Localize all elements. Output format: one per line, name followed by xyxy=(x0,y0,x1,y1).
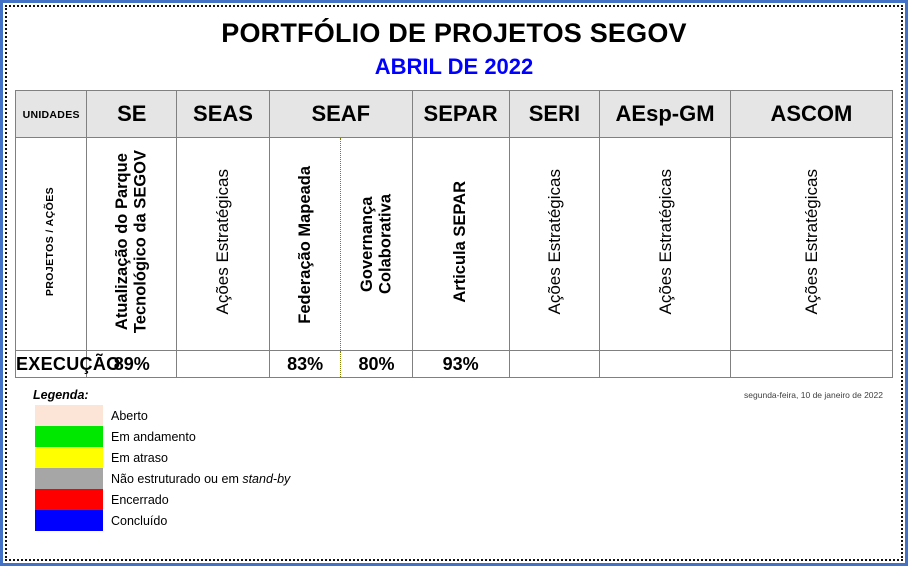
project-cell-se[interactable]: Atualização do Parque Tecnológico da SEG… xyxy=(87,138,177,351)
unit-label: SEAS xyxy=(193,101,253,126)
project-cell-seas[interactable]: Ações Estratégicas xyxy=(177,138,270,351)
page-root: PORTFÓLIO DE PROJETOS SEGOV ABRIL DE 202… xyxy=(0,0,908,566)
unit-label: SE xyxy=(117,101,146,126)
row-label-projects: PROJETOS / AÇÕES xyxy=(16,138,87,351)
execution-cell-aespgm xyxy=(600,351,731,378)
unit-label: SEPAR xyxy=(424,101,498,126)
page-inner-frame: PORTFÓLIO DE PROJETOS SEGOV ABRIL DE 202… xyxy=(5,5,903,561)
legend-swatch xyxy=(35,405,103,426)
seaf-split: Federação Mapeada Governança Colaborativ… xyxy=(270,138,412,350)
execution-cell-seri xyxy=(509,351,600,378)
legend-item-em-andamento: Em andamento xyxy=(15,426,893,447)
execution-value: 80% xyxy=(358,354,394,375)
project-subcell-federacao[interactable]: Federação Mapeada xyxy=(270,138,340,350)
project-name: Atualização do Parque Tecnológico da SEG… xyxy=(113,150,150,333)
portfolio-matrix: UNIDADES SE SEAS SEAF SEPAR SERI AEsp-GM… xyxy=(15,90,893,378)
legend-item-concluido: Concluído xyxy=(15,510,893,531)
units-label: UNIDADES xyxy=(23,109,80,121)
project-name: Federação Mapeada xyxy=(296,166,314,324)
legend-label: Em atraso xyxy=(111,451,168,465)
legend-swatch xyxy=(35,510,103,531)
execution-row: EXECUÇÃO 89% 83% 80% xyxy=(16,351,893,378)
execution-cell-seaf: 83% 80% xyxy=(269,351,412,378)
title-block: PORTFÓLIO DE PROJETOS SEGOV ABRIL DE 202… xyxy=(15,19,893,78)
project-name: Ações Estratégicas xyxy=(802,169,821,315)
project-subcell-governanca[interactable]: Governança Colaborativa xyxy=(340,138,411,350)
unit-header-separ[interactable]: SEPAR xyxy=(412,91,509,138)
unit-label: ASCOM xyxy=(770,101,852,126)
legend-swatch xyxy=(35,489,103,510)
legend-label: Encerrado xyxy=(111,493,169,507)
execution-value: 89% xyxy=(114,354,150,374)
legend: segunda-feira, 10 de janeiro de 2022 Leg… xyxy=(15,388,893,531)
page-title: PORTFÓLIO DE PROJETOS SEGOV xyxy=(15,19,893,47)
unit-label: SERI xyxy=(529,101,580,126)
unit-header-ascom[interactable]: ASCOM xyxy=(730,91,892,138)
execution-cell-seas xyxy=(177,351,270,378)
execution-cell-separ: 93% xyxy=(412,351,509,378)
unit-header-se[interactable]: SE xyxy=(87,91,177,138)
row-label-execution: EXECUÇÃO xyxy=(16,351,87,378)
project-cell-ascom[interactable]: Ações Estratégicas xyxy=(730,138,892,351)
legend-label-emphasis: stand-by xyxy=(242,472,290,486)
projects-label: PROJETOS / AÇÕES xyxy=(45,187,57,296)
execution-subcell-governanca: 80% xyxy=(340,351,411,377)
execution-value: 83% xyxy=(287,354,323,375)
unit-header-seaf[interactable]: SEAF xyxy=(269,91,412,138)
document-date: segunda-feira, 10 de janeiro de 2022 xyxy=(744,390,883,400)
legend-label: Concluído xyxy=(111,514,167,528)
legend-swatch xyxy=(35,426,103,447)
project-cell-seaf[interactable]: Federação Mapeada Governança Colaborativ… xyxy=(269,138,412,351)
legend-item-encerrado: Encerrado xyxy=(15,489,893,510)
project-cell-separ[interactable]: Articula SEPAR xyxy=(412,138,509,351)
unit-header-seri[interactable]: SERI xyxy=(509,91,600,138)
execution-subcell-federacao: 83% xyxy=(270,351,340,377)
project-name: Ações Estratégicas xyxy=(545,169,564,315)
legend-item-nao-estruturado: Não estruturado ou em stand-by xyxy=(15,468,893,489)
legend-label: Aberto xyxy=(111,409,148,423)
unit-label: AEsp-GM xyxy=(616,101,715,126)
projects-row: PROJETOS / AÇÕES Atualização do Parque T… xyxy=(16,138,893,351)
legend-label-composite: Não estruturado ou em stand-by xyxy=(111,472,290,486)
project-name: Articula SEPAR xyxy=(451,181,469,303)
project-name: Ações Estratégicas xyxy=(656,169,675,315)
execution-value: 93% xyxy=(443,354,479,374)
execution-cell-ascom xyxy=(730,351,892,378)
header-corner-units: UNIDADES xyxy=(16,91,87,138)
legend-swatch xyxy=(35,447,103,468)
legend-item-em-atraso: Em atraso xyxy=(15,447,893,468)
legend-label: Não estruturado ou em xyxy=(111,472,242,486)
project-cell-seri[interactable]: Ações Estratégicas xyxy=(509,138,600,351)
units-header-row: UNIDADES SE SEAS SEAF SEPAR SERI AEsp-GM… xyxy=(16,91,893,138)
unit-header-aespgm[interactable]: AEsp-GM xyxy=(600,91,731,138)
project-name: Governança Colaborativa xyxy=(358,194,395,294)
project-name: Ações Estratégicas xyxy=(213,169,232,315)
legend-swatch xyxy=(35,468,103,489)
seaf-execution-split: 83% 80% xyxy=(270,351,412,377)
page-subtitle: ABRIL DE 2022 xyxy=(15,55,893,78)
legend-label: Em andamento xyxy=(111,430,196,444)
unit-header-seas[interactable]: SEAS xyxy=(177,91,270,138)
legend-item-aberto: Aberto xyxy=(15,405,893,426)
unit-label: SEAF xyxy=(311,101,370,126)
execution-label: EXECUÇÃO xyxy=(16,354,120,374)
project-cell-aespgm[interactable]: Ações Estratégicas xyxy=(600,138,731,351)
